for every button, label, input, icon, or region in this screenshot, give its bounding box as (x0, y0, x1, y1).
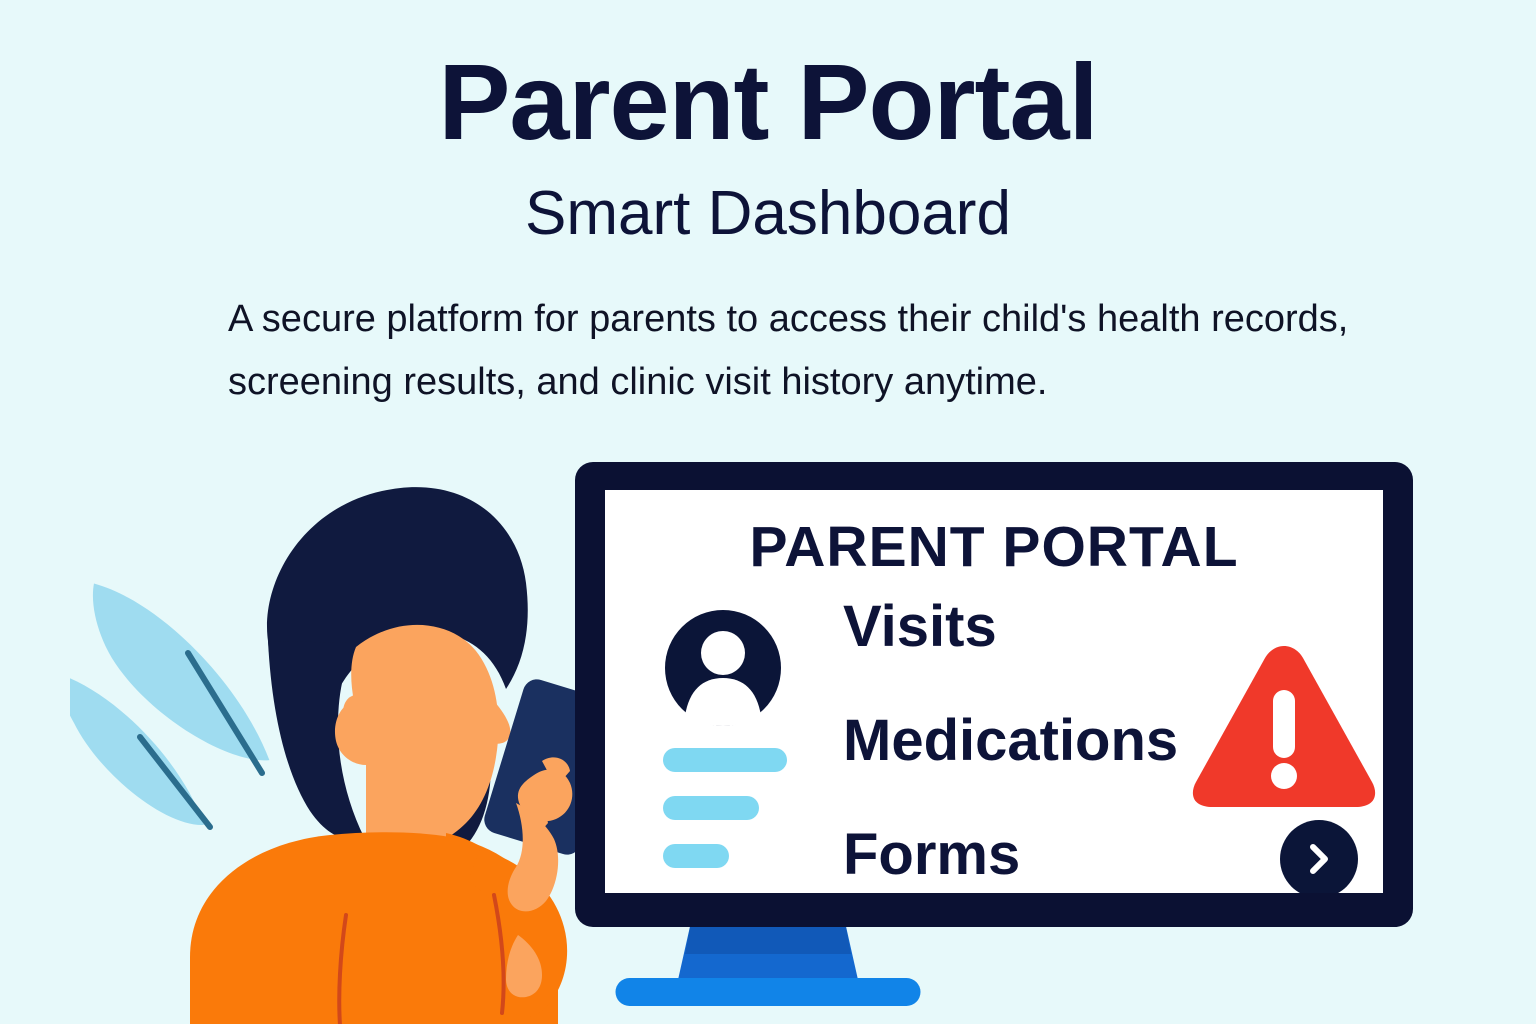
placeholder-bars (663, 748, 793, 892)
woman-illustration (150, 465, 620, 1024)
placeholder-bar-3 (663, 844, 729, 868)
next-button[interactable] (1280, 820, 1358, 893)
screen-heading: PARENT PORTAL (605, 514, 1383, 580)
page-description: A secure platform for parents to access … (228, 288, 1398, 413)
chevron-right-icon (1299, 839, 1339, 879)
person-icon (150, 465, 620, 1024)
menu-item-forms[interactable]: Forms (843, 826, 1223, 884)
placeholder-bar-2 (663, 796, 759, 820)
monitor-frame: PARENT PORTAL Visits Medications Forms (575, 462, 1413, 927)
screen-menu: Visits Medications Forms (843, 598, 1223, 893)
monitor-screen: PARENT PORTAL Visits Medications Forms (605, 490, 1383, 893)
page-title: Parent Portal (0, 48, 1536, 156)
poster-canvas: Parent Portal Smart Dashboard A secure p… (0, 0, 1536, 1024)
warning-triangle-icon (1189, 640, 1379, 810)
monitor-stand-base (616, 978, 921, 1006)
page-subtitle: Smart Dashboard (0, 183, 1536, 245)
menu-item-visits[interactable]: Visits (843, 598, 1223, 656)
user-avatar-icon[interactable] (663, 608, 783, 728)
menu-item-medications[interactable]: Medications (843, 712, 1223, 770)
placeholder-bar-1 (663, 748, 787, 772)
